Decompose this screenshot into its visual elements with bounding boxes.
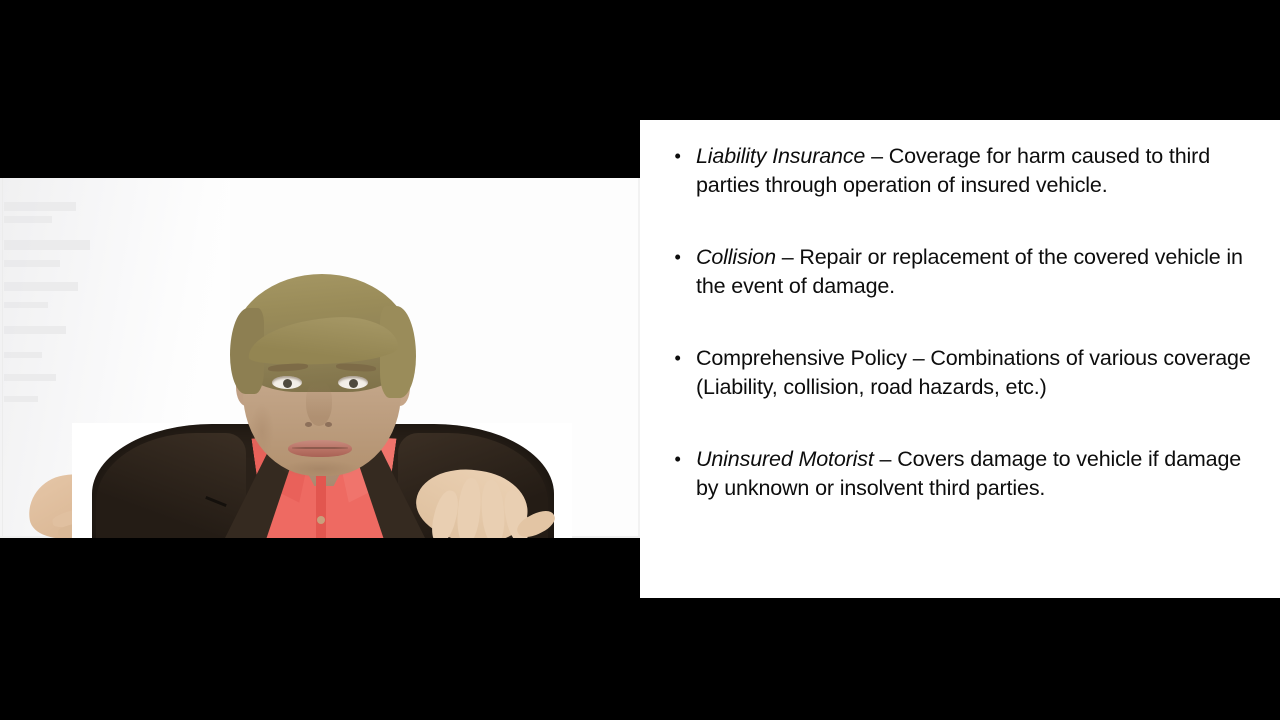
bullet-text: Collision – Repair or replacement of the… <box>696 243 1264 300</box>
bullet-point-icon: • <box>674 445 696 474</box>
bullet-text: Liability Insurance – Coverage for harm … <box>696 142 1264 199</box>
presenter-cheek-shadow <box>250 403 274 459</box>
screen-root: • Liability Insurance – Coverage for har… <box>0 0 1280 720</box>
bullet-point-icon: • <box>674 344 696 373</box>
presenter-shirt-button <box>317 516 325 524</box>
presenter-nostril-left <box>305 422 312 427</box>
presenter-lip-line <box>292 447 348 449</box>
presenter-pupil-left <box>283 379 292 388</box>
bullet-text: Uninsured Motorist – Covers damage to ve… <box>696 445 1264 502</box>
presenter-pupil-right <box>349 379 358 388</box>
list-item: • Collision – Repair or replacement of t… <box>674 243 1264 300</box>
bullet-point-icon: • <box>674 142 696 171</box>
presenter-shirt-placket <box>316 474 326 538</box>
list-item: • Uninsured Motorist – Covers damage to … <box>674 445 1264 502</box>
bullet-body: – Repair or replacement of the covered v… <box>696 245 1243 298</box>
bullet-term: Comprehensive Policy <box>696 346 907 370</box>
bullet-text: Comprehensive Policy – Combinations of v… <box>696 344 1264 401</box>
bullet-term: Liability Insurance <box>696 144 865 168</box>
bullet-point-icon: • <box>674 243 696 272</box>
presenter-nostril-right <box>325 422 332 427</box>
slide-panel[interactable]: • Liability Insurance – Coverage for har… <box>640 120 1280 598</box>
presenter-video-panel[interactable] <box>0 178 640 538</box>
list-item: • Liability Insurance – Coverage for har… <box>674 142 1264 199</box>
presenter-figure <box>0 178 640 538</box>
slide-bullet-list: • Liability Insurance – Coverage for har… <box>674 142 1264 502</box>
list-item: • Comprehensive Policy – Combinations of… <box>674 344 1264 401</box>
presenter-nose <box>306 382 332 426</box>
bullet-term: Uninsured Motorist <box>696 447 874 471</box>
presenter-chin-shadow <box>282 460 358 478</box>
bullet-term: Collision <box>696 245 776 269</box>
